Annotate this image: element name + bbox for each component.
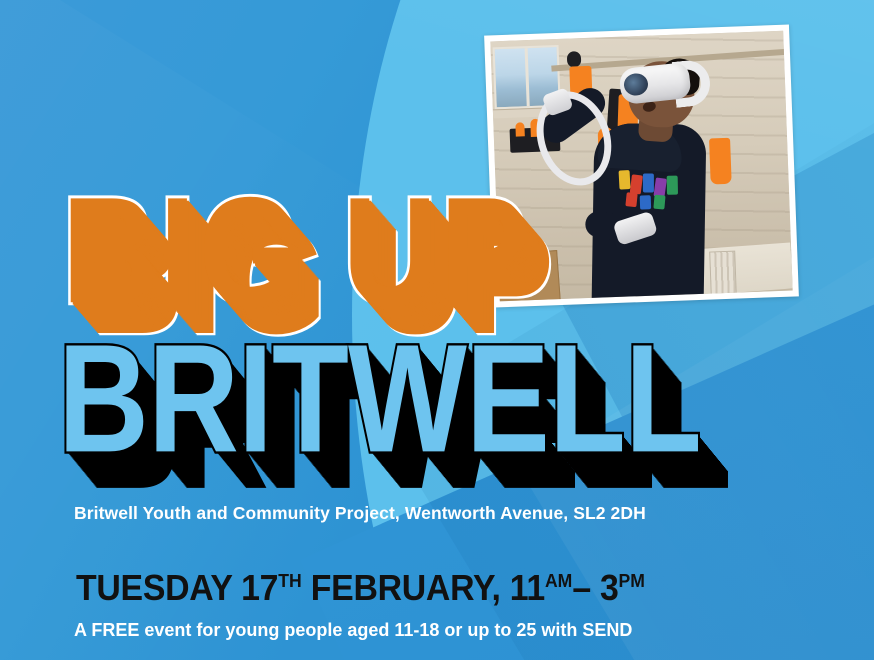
headline-big-up: BIG UP [62, 176, 530, 327]
photo-climbing-hold [709, 138, 732, 185]
event-photo-image [490, 31, 792, 302]
event-date-suffix: TH [278, 570, 301, 591]
event-eligibility-note: A FREE event for young people aged 11-18… [74, 620, 632, 641]
event-date-month: FEBRUARY, 11 [302, 567, 545, 608]
event-photo [484, 25, 799, 308]
event-datetime: TUESDAY 17TH FEBRUARY, 11AM– 3PM [76, 567, 645, 609]
event-time-end-meridiem: PM [619, 570, 645, 591]
poster-canvas: BIG UP BRITWELL Britwell Youth and Commu… [0, 0, 874, 660]
event-date-day: TUESDAY 17 [76, 567, 278, 608]
headline-britwell: BRITWELL [58, 322, 701, 476]
photo-wall-fixture [567, 51, 582, 68]
venue-address: Britwell Youth and Community Project, We… [74, 503, 646, 524]
photo-climbing-hold [515, 122, 525, 136]
event-time-separator: – 3 [572, 567, 618, 608]
photo-radiator [709, 251, 737, 296]
event-time-start-meridiem: AM [545, 570, 572, 591]
photo-vr-lens [623, 72, 649, 96]
